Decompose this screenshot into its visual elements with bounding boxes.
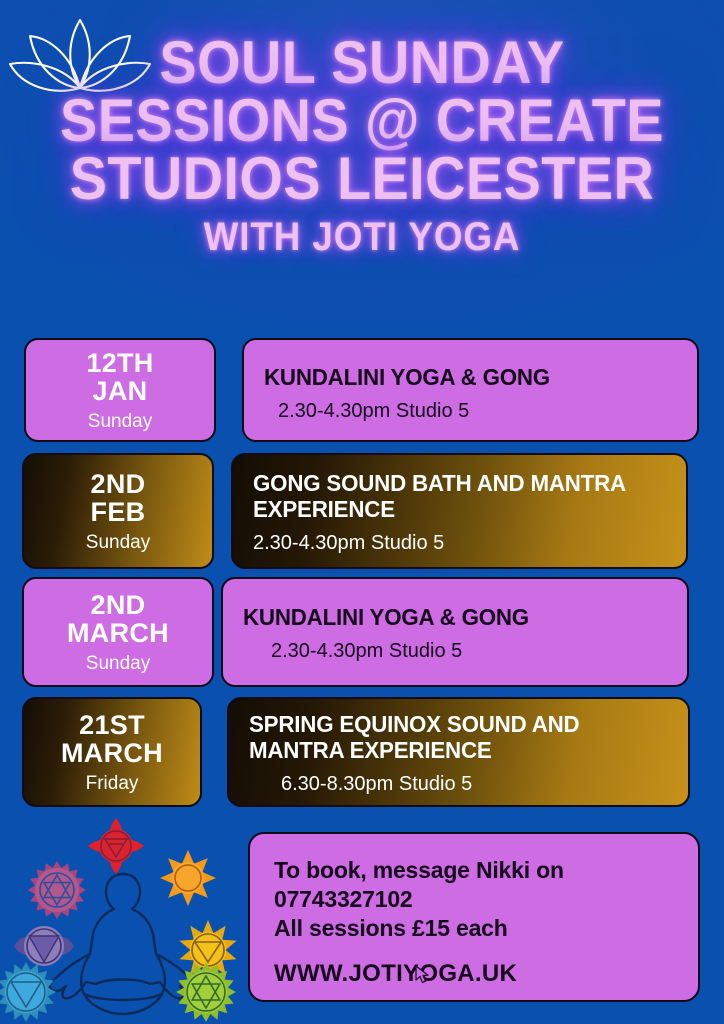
schedule-row: 12TH JAN Sunday KUNDALINI YOGA & GONG 2.… — [0, 338, 724, 442]
schedule-row: 21ST MARCH Friday SPRING EQUINOX SOUND A… — [0, 697, 724, 807]
session-date-month: MARCH — [61, 739, 163, 767]
session-time: 2.30-4.30pm Studio 5 — [253, 533, 668, 553]
session-schedule: 12TH JAN Sunday KUNDALINI YOGA & GONG 2.… — [0, 338, 724, 818]
website-url[interactable]: WWW.JOTIYOGA.UK — [274, 959, 674, 989]
booking-phone-number: 07743327102 — [274, 885, 674, 914]
session-title: KUNDALINI YOGA & GONG — [264, 365, 667, 391]
throat-chakra-icon — [0, 962, 56, 1022]
session-title: SPRING EQUINOX SOUND AND MANTRA EXPERIEN… — [249, 712, 657, 764]
session-date-day-number: 12TH — [86, 349, 153, 377]
booking-info-panel: To book, message Nikki on 07743327102 Al… — [248, 832, 700, 1002]
session-detail-box: KUNDALINI YOGA & GONG 2.30-4.30pm Studio… — [221, 577, 689, 687]
session-weekday: Sunday — [86, 533, 150, 552]
poster-canvas: SOUL SUNDAY SESSIONS @ CREATE STUDIOS LE… — [0, 0, 724, 1024]
schedule-row: 2ND FEB Sunday GONG SOUND BATH AND MANTR… — [0, 453, 724, 569]
headline-subtitle: WITH JOTI YOGA — [29, 217, 695, 257]
session-weekday: Friday — [86, 774, 139, 793]
session-date-month: JAN — [93, 377, 148, 405]
session-weekday: Sunday — [88, 412, 152, 431]
session-detail-box: GONG SOUND BATH AND MANTRA EXPERIENCE 2.… — [231, 453, 688, 569]
root-chakra-icon — [88, 818, 144, 874]
session-detail-box: KUNDALINI YOGA & GONG 2.30-4.30pm Studio… — [242, 338, 699, 442]
headline-line-3: STUDIOS LEICESTER — [25, 150, 698, 208]
booking-price-line: All sessions £15 each — [274, 914, 674, 943]
session-title: GONG SOUND BATH AND MANTRA EXPERIENCE — [253, 471, 656, 523]
session-weekday: Sunday — [86, 654, 150, 673]
session-date-day-number: 2ND — [91, 591, 146, 619]
headline-line-1: SOUL SUNDAY — [25, 34, 698, 92]
session-detail-box: SPRING EQUINOX SOUND AND MANTRA EXPERIEN… — [227, 697, 690, 807]
crown-chakra-icon — [28, 861, 86, 919]
session-time: 6.30-8.30pm Studio 5 — [281, 774, 670, 794]
session-date-box: 2ND FEB Sunday — [22, 453, 214, 569]
headline-line-2: SESSIONS @ CREATE — [25, 92, 698, 150]
session-time: 2.30-4.30pm Studio 5 — [271, 641, 669, 661]
session-date-box: 2ND MARCH Sunday — [22, 577, 214, 687]
session-date-day-number: 21ST — [79, 711, 145, 739]
session-time: 2.30-4.30pm Studio 5 — [278, 401, 679, 421]
poster-headline: SOUL SUNDAY SESSIONS @ CREATE STUDIOS LE… — [0, 34, 724, 257]
heart-chakra-icon — [176, 962, 236, 1022]
session-date-month: FEB — [91, 498, 146, 526]
session-date-box: 12TH JAN Sunday — [24, 338, 216, 442]
schedule-row: 2ND MARCH Sunday KUNDALINI YOGA & GONG 2… — [0, 577, 724, 687]
third-eye-chakra-icon — [14, 926, 74, 966]
session-date-month: MARCH — [67, 619, 169, 647]
session-title: KUNDALINI YOGA & GONG — [243, 605, 656, 631]
session-date-day-number: 2ND — [91, 470, 146, 498]
booking-contact-line: To book, message Nikki on — [274, 856, 674, 885]
sacral-chakra-icon — [160, 850, 216, 906]
session-date-box: 21ST MARCH Friday — [22, 697, 202, 807]
meditating-figure-with-seven-chakras-illustration — [0, 812, 246, 1024]
